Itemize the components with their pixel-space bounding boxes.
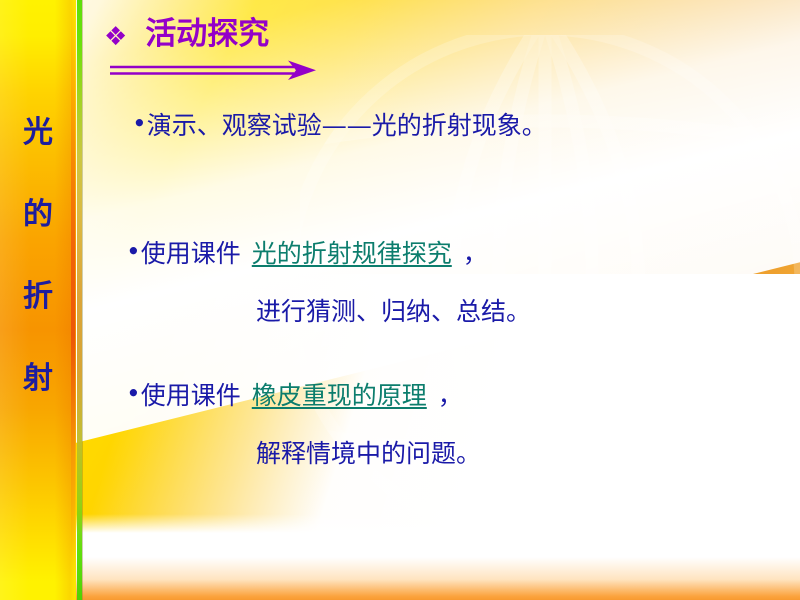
- bullet-prefix-2: 使用课件: [141, 239, 241, 268]
- bullet-suffix-3: ，: [438, 381, 463, 410]
- slide: 光 的 折 射 ❖ 活动探究 •演示、观察试验——光的折射现象。 •使用课件光的…: [0, 0, 800, 600]
- continuation-line-2: 解释情境中的问题。: [256, 438, 704, 470]
- bullet-line-courseware-2: •使用课件橡皮重现的原理，: [126, 380, 704, 412]
- sidebar-char-4: 射: [0, 364, 76, 394]
- bullet-suffix-2: ，: [463, 239, 488, 268]
- bullet-text-1: 演示、观察试验——光的折射现象。: [147, 111, 547, 140]
- link-refraction-law-exploration[interactable]: 光的折射规律探究: [252, 239, 452, 268]
- arrow-right-icon: [108, 58, 320, 82]
- sidebar-char-2: 的: [0, 200, 76, 230]
- bullet-line-demo: •演示、观察试验——光的折射现象。: [132, 110, 704, 142]
- diamond-cluster-icon: ❖: [104, 24, 127, 50]
- slide-body: •演示、观察试验——光的折射现象。 •使用课件光的折射规律探究， 进行猜测、归纳…: [104, 100, 704, 470]
- bullet-icon-2: •: [126, 237, 141, 266]
- sidebar-dark-edge: [82, 0, 83, 600]
- continuation-text-1: 进行猜测、归纳、总结。: [256, 297, 531, 326]
- bullet-line-courseware-1: •使用课件光的折射规律探究，: [126, 238, 704, 270]
- continuation-line-1: 进行猜测、归纳、总结。: [256, 296, 704, 328]
- sidebar: 光 的 折 射: [0, 0, 84, 600]
- sidebar-vertical-title: 光 的 折 射: [0, 118, 76, 394]
- continuation-text-2: 解释情境中的问题。: [256, 439, 481, 468]
- bullet-icon-1: •: [132, 109, 147, 138]
- sidebar-char-3: 折: [0, 282, 76, 312]
- slide-header: ❖ 活动探究: [104, 18, 269, 51]
- bullet-icon-3: •: [126, 379, 141, 408]
- link-eraser-reappearance-principle[interactable]: 橡皮重现的原理: [252, 381, 427, 410]
- page-title: 活动探究: [145, 18, 269, 51]
- bullet-prefix-3: 使用课件: [141, 381, 241, 410]
- sidebar-char-1: 光: [0, 118, 76, 148]
